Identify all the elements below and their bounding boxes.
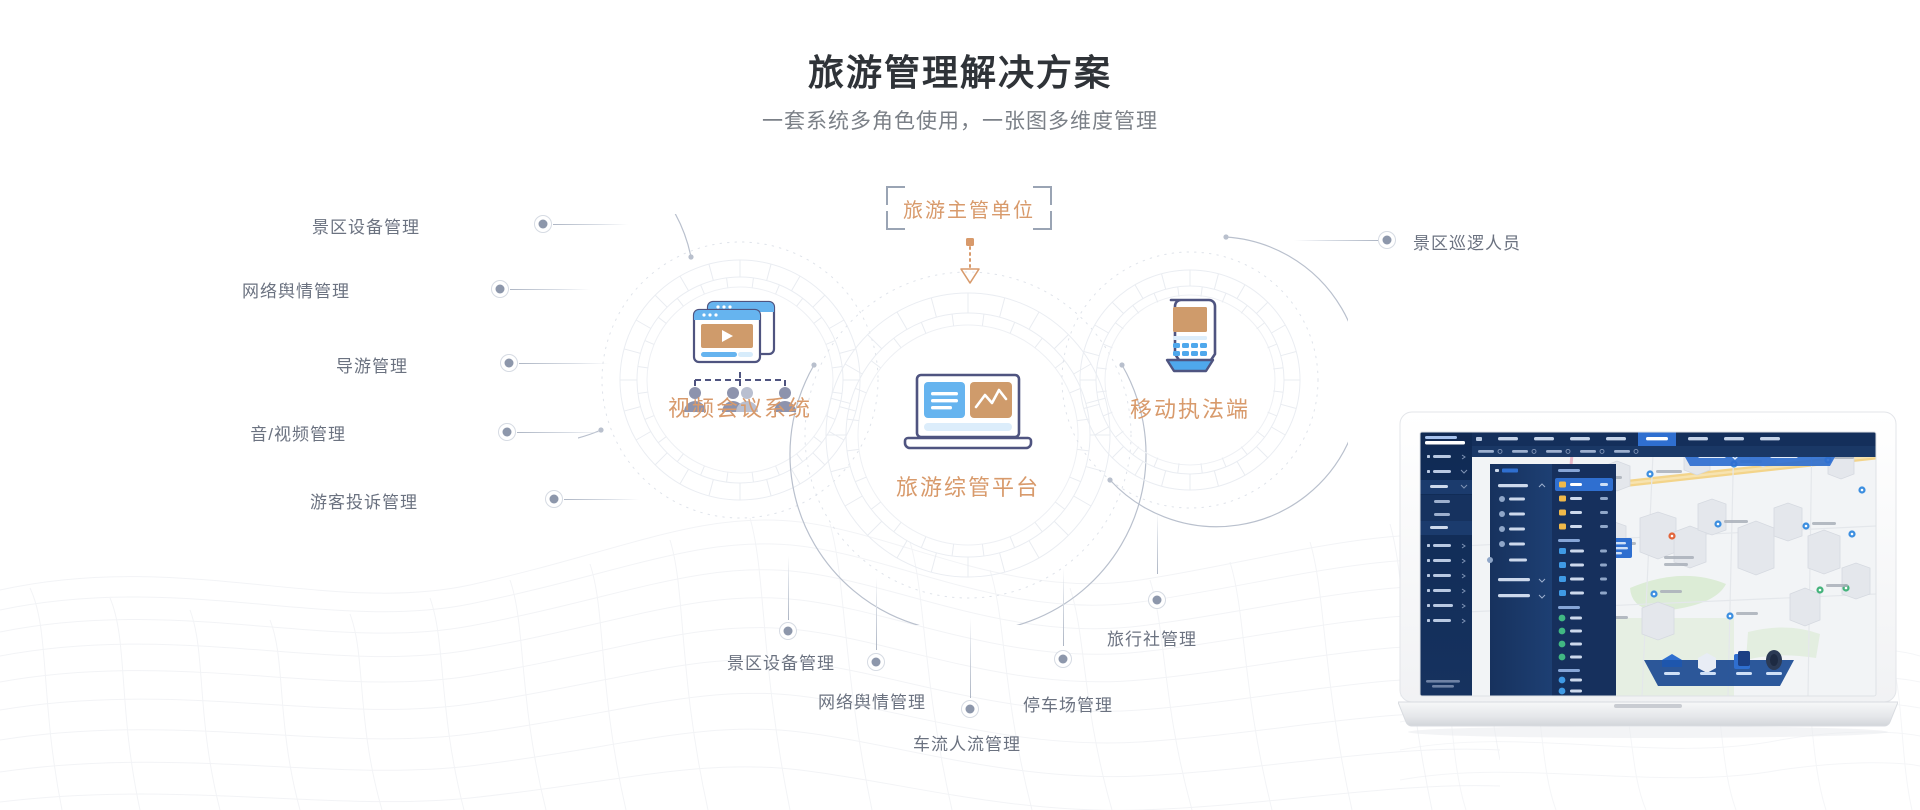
- node-right-1-dot[interactable]: [1378, 231, 1396, 249]
- node-left-1-dot[interactable]: [534, 215, 552, 233]
- node-bottom-4-dot[interactable]: [1054, 650, 1072, 668]
- node-bottom-5-line: [1157, 512, 1158, 574]
- downward-dotted-arrow-icon: [952, 238, 988, 288]
- node-left-2-dot[interactable]: [491, 280, 509, 298]
- infographic-root: 旅游管理解决方案 一套系统多角色使用，一张图多维度管理 旅游主管单位: [0, 0, 1920, 810]
- node-bottom-4-label: 停车场管理: [1023, 691, 1113, 716]
- gov-authority-box: 旅游主管单位: [886, 186, 1052, 230]
- gov-authority-label: 旅游主管单位: [903, 194, 1035, 223]
- node-right-1-line: [1294, 240, 1378, 241]
- node-bottom-5-dot[interactable]: [1148, 591, 1166, 609]
- bracket-corner-top-right: [1033, 186, 1052, 205]
- hub-label-video-conference: 视频会议系统: [640, 391, 840, 423]
- node-left-3-dot[interactable]: [500, 354, 518, 372]
- page-title: 旅游管理解决方案: [0, 44, 1920, 96]
- laptop-product-mockup: [1398, 408, 1898, 748]
- background-wireframe-mesh: [0, 480, 1500, 810]
- node-bottom-1-label: 景区设备管理: [727, 649, 835, 674]
- node-left-5-label: 游客投诉管理: [278, 488, 418, 513]
- node-left-3-label: 导游管理: [268, 352, 408, 377]
- node-left-5-line: [564, 499, 639, 500]
- node-bottom-5-label: 旅行社管理: [1107, 625, 1197, 650]
- node-bottom-3-dot[interactable]: [961, 700, 979, 718]
- node-bottom-2-dot[interactable]: [867, 653, 885, 671]
- node-bottom-2-label: 网络舆情管理: [818, 688, 926, 713]
- node-left-1-line: [553, 224, 628, 225]
- node-bottom-3-label: 车流人流管理: [913, 730, 1021, 755]
- bracket-corner-top-left: [886, 186, 905, 205]
- node-bottom-4-line: [1063, 568, 1064, 646]
- bracket-corner-bottom-right: [1033, 211, 1052, 230]
- node-bottom-2-line: [876, 578, 877, 650]
- bracket-corner-bottom-left: [886, 211, 905, 230]
- node-right-1-label: 景区巡逻人员: [1413, 229, 1521, 254]
- node-left-3-line: [519, 363, 609, 364]
- node-left-5-dot[interactable]: [545, 490, 563, 508]
- node-left-4-dot[interactable]: [498, 423, 516, 441]
- node-left-4-line: [517, 432, 605, 433]
- page-subtitle: 一套系统多角色使用，一张图多维度管理: [0, 105, 1920, 135]
- node-bottom-1-line: [788, 556, 789, 620]
- node-bottom-1-dot[interactable]: [779, 622, 797, 640]
- handheld-terminal-icon: [1155, 296, 1225, 388]
- video-window-icon: [680, 296, 800, 376]
- node-bottom-3-line: [970, 618, 971, 698]
- node-left-2-label: 网络舆情管理: [210, 277, 350, 302]
- hub-label-tourism-platform: 旅游综管平台: [868, 470, 1068, 502]
- node-left-4-label: 音/视频管理: [206, 420, 346, 445]
- node-left-1-label: 景区设备管理: [280, 213, 420, 238]
- node-left-2-line: [510, 289, 590, 290]
- hub-label-mobile-enforcement: 移动执法端: [1106, 392, 1274, 424]
- laptop-dashboard-icon: [898, 371, 1038, 459]
